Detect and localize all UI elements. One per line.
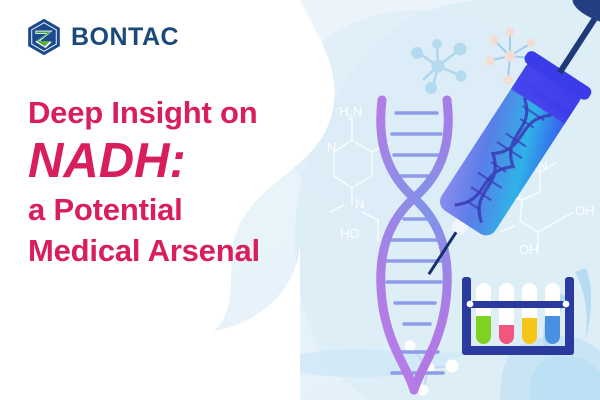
brand-name: BONTAC (71, 25, 179, 50)
headline-line-2: NADH: (28, 133, 358, 189)
headline-line-4: Medical Arsenal (28, 234, 358, 269)
test-tube (522, 283, 537, 344)
test-tubes (476, 283, 560, 344)
rack-pin (563, 301, 570, 308)
rack-pin (467, 301, 474, 308)
test-tube (499, 283, 514, 344)
test-tube (476, 283, 491, 344)
headline-line-3: a Potential (28, 193, 358, 228)
headline-line-1: Deep Insight on (28, 96, 358, 131)
hexagon-swoosh-logo-icon (26, 18, 62, 56)
test-tube (545, 283, 560, 344)
brand-logo[interactable]: BONTAC (26, 18, 179, 56)
banner-image: H 2 N N N HO H 2 Na N O OH OH (0, 0, 600, 400)
headline-block: Deep Insight on NADH: a Potential Medica… (28, 96, 358, 269)
